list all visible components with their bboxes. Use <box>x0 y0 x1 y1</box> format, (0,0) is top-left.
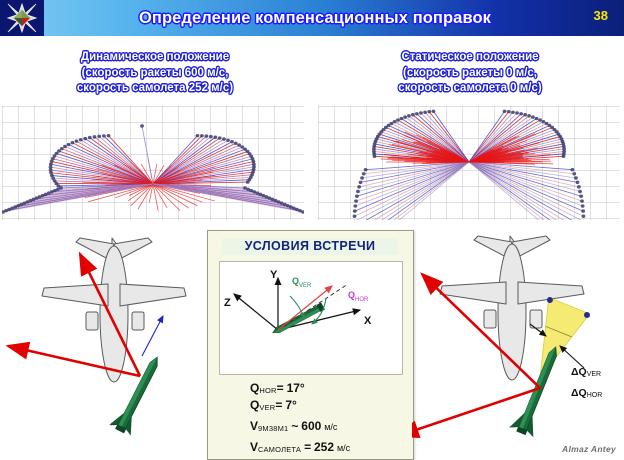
v-aircraft-value: 252 <box>314 440 334 454</box>
leader-arrow-hor <box>560 346 584 368</box>
subtitle-right-line1: Статическое положение <box>330 50 610 66</box>
q-ver-relation: = <box>275 398 282 412</box>
slide-header: Определение компенсационных поправок 38 <box>0 0 624 36</box>
dynamic-fragment-spread-plot <box>2 106 304 220</box>
v-missile-subscript: 9М38М1 <box>258 424 288 433</box>
meeting-conditions-values: QHOR= 17° QVER= 7° V9М38М1 ~ 600 м/с VСА… <box>208 381 413 457</box>
q-ver-subscript: VER <box>259 403 275 412</box>
value-row-v-missile: V9М38М1 ~ 600 м/с <box>208 419 413 433</box>
dynamic-engagement-diagram <box>0 226 207 460</box>
delta-q-hor-subscript: HOR <box>587 392 603 399</box>
q-hor-unit: ° <box>300 381 305 395</box>
svg-text:Q: Q <box>292 276 299 286</box>
page-title: Определение компенсационных поправок <box>100 5 530 31</box>
page-number: 38 <box>594 8 608 23</box>
q-hor-relation: = <box>277 381 284 395</box>
v-aircraft-subscript: САМОЛЕТА <box>258 445 301 454</box>
q-ver-value: 7 <box>285 398 292 412</box>
subtitle-left-line3: скорость самолета 252 м/с) <box>20 81 290 97</box>
logo-container <box>0 0 44 36</box>
v-missile-symbol: V <box>250 419 258 433</box>
q-hor-subscript: HOR <box>259 386 276 395</box>
delta-q-ver-label: ΔQVER <box>571 366 601 378</box>
slide-root: Определение компенсационных поправок 38 … <box>0 0 624 460</box>
value-row-v-aircraft: VСАМОЛЕТА = 252 м/с <box>208 440 413 454</box>
static-engagement-diagram <box>412 226 624 460</box>
delta-q-ver-symbol: ΔQ <box>571 366 587 378</box>
coordinate-axes-diagram: Y Z X Q VER Q HOR <box>219 261 403 375</box>
velocity-pointer <box>142 316 163 356</box>
delta-q-hor-label: ΔQHOR <box>571 387 602 399</box>
subtitle-right-line3: скорость самолета 0 м/с) <box>330 81 610 97</box>
svg-text:Q: Q <box>348 290 355 300</box>
axis-z <box>234 294 278 330</box>
axis-x-label: X <box>364 315 372 327</box>
aircraft-silhouette <box>42 238 186 382</box>
v-missile-relation: ~ <box>291 419 298 433</box>
static-fragment-spread-plot <box>318 106 620 220</box>
meeting-conditions-panel: УСЛОВИЯ ВСТРЕЧИ <box>207 230 414 460</box>
svg-text:VER: VER <box>299 283 312 289</box>
v-aircraft-symbol: V <box>250 440 258 454</box>
v-missile-unit: м/с <box>324 422 337 432</box>
axis-z-label: Z <box>224 297 231 309</box>
svg-text:HOR: HOR <box>355 297 369 303</box>
q-ver-label: Q VER <box>292 276 312 289</box>
q-ver-symbol: Q <box>250 398 259 412</box>
value-row-q-hor: QHOR= 17° <box>208 381 413 395</box>
value-row-q-ver: QVER= 7° <box>208 398 413 412</box>
v-aircraft-relation: = <box>304 440 311 454</box>
subtitle-right-line2: (скорость ракеты 0 м/с, <box>330 66 610 82</box>
watermark: Almaz Antey <box>562 444 616 454</box>
subtitle-left-line1: Динамическое положение <box>20 50 290 66</box>
v-missile-value: 600 <box>301 419 321 433</box>
subtitle-left-line2: (скорость ракеты 600 м/с, <box>20 66 290 82</box>
q-hor-value: 17 <box>287 381 300 395</box>
v-aircraft-unit: м/с <box>337 443 350 453</box>
delta-q-ver-subscript: VER <box>587 371 601 378</box>
subtitle-right: Статическое положение (скорость ракеты 0… <box>330 50 610 97</box>
delta-q-hor-symbol: ΔQ <box>571 387 587 399</box>
meeting-conditions-title: УСЛОВИЯ ВСТРЕЧИ <box>222 238 398 255</box>
axis-y-label: Y <box>270 269 278 281</box>
q-ver-unit: ° <box>292 398 297 412</box>
q-hor-label: Q HOR <box>348 290 369 303</box>
star-emblem-icon <box>7 3 37 33</box>
q-hor-symbol: Q <box>250 381 259 395</box>
subtitle-left: Динамическое положение (скорость ракеты … <box>20 50 290 97</box>
